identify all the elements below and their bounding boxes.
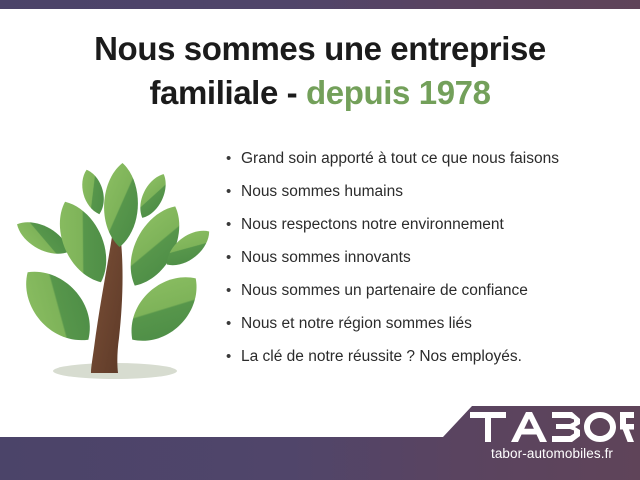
list-item: • Nous sommes un partenaire de confiance: [226, 280, 626, 313]
brand-domain-label: tabor-automobiles.fr: [470, 446, 634, 461]
headline-line-2: familiale - depuis 1978: [0, 71, 640, 115]
brand-logo[interactable]: tabor-automobiles.fr: [470, 410, 634, 472]
headline-line-2-main: familiale -: [149, 74, 306, 111]
list-item-label: Nous sommes un partenaire de confiance: [241, 280, 528, 302]
bullet-marker-icon: •: [226, 181, 241, 203]
list-item-label: Nous respectons notre environnement: [241, 214, 504, 236]
headline-line-1: Nous sommes une entreprise: [0, 27, 640, 71]
list-item: • La clé de notre réussite ? Nos employé…: [226, 346, 626, 379]
list-item-label: Grand soin apporté à tout ce que nous fa…: [241, 148, 559, 170]
bullet-marker-icon: •: [226, 148, 241, 170]
headline-accent-since: depuis 1978: [306, 74, 491, 111]
list-item: • Grand soin apporté à tout ce que nous …: [226, 148, 626, 181]
list-item-label: Nous sommes humains: [241, 181, 403, 203]
tree-leaf: [117, 262, 212, 356]
tabor-wordmark-icon: [470, 410, 634, 444]
tree-leaf: [103, 162, 140, 247]
page-title: Nous sommes une entreprise familiale - d…: [0, 27, 640, 115]
slide-canvas: Nous sommes une entreprise familiale - d…: [0, 0, 640, 480]
bullet-marker-icon: •: [226, 280, 241, 302]
list-item: • Nous et notre région sommes liés: [226, 313, 626, 346]
list-item: • Nous respectons notre environnement: [226, 214, 626, 247]
bullet-marker-icon: •: [226, 346, 241, 368]
list-item: • Nous sommes innovants: [226, 247, 626, 280]
benefits-list: • Grand soin apporté à tout ce que nous …: [226, 148, 626, 379]
list-item: • Nous sommes humains: [226, 181, 626, 214]
bullet-marker-icon: •: [226, 313, 241, 335]
top-accent-bar: [0, 0, 640, 9]
bullet-marker-icon: •: [226, 247, 241, 269]
list-item-label: La clé de notre réussite ? Nos employés.: [241, 346, 522, 368]
list-item-label: Nous sommes innovants: [241, 247, 411, 269]
tree-illustration: [12, 152, 217, 384]
bullet-marker-icon: •: [226, 214, 241, 236]
tree-leaf: [77, 167, 108, 217]
list-item-label: Nous et notre région sommes liés: [241, 313, 472, 335]
